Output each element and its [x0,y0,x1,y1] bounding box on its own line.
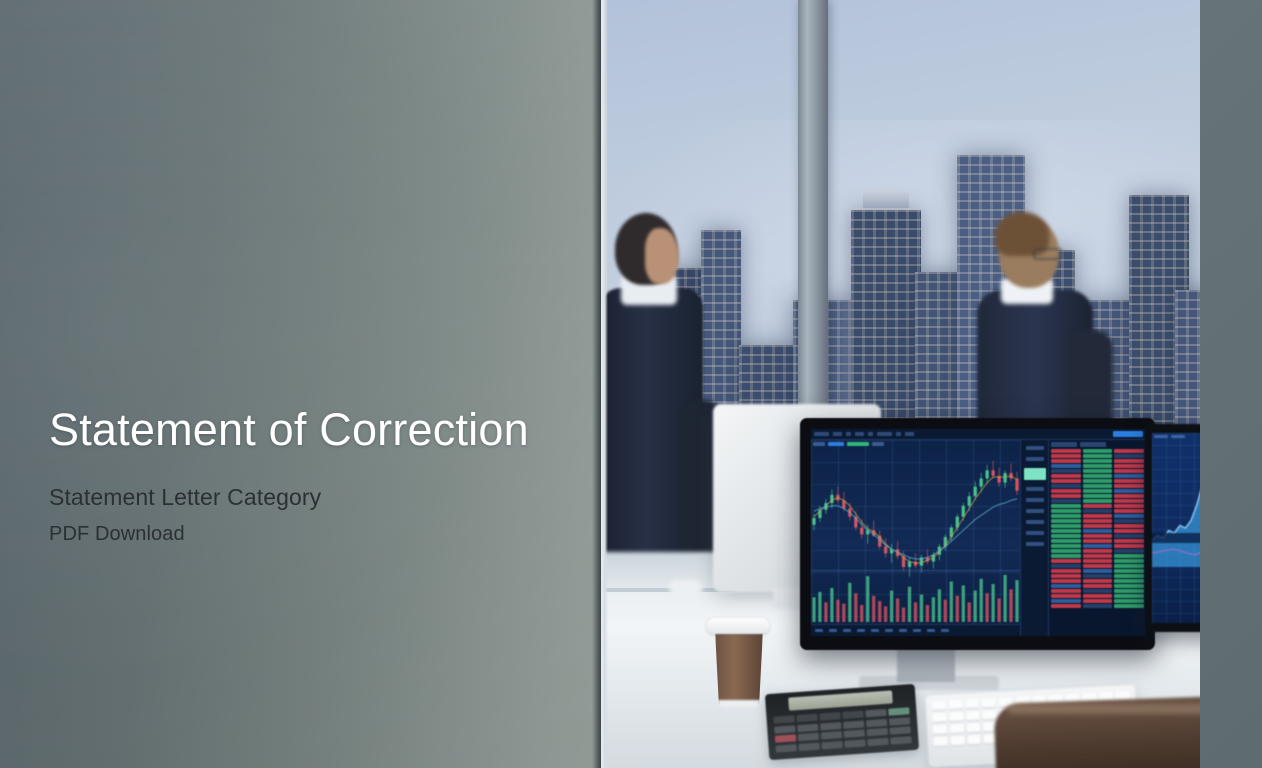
candles-svg [811,454,1020,582]
chart-symbol-row [813,442,884,446]
page-title: Statement of Correction [49,404,569,456]
calculator [765,684,919,760]
wall-corner-highlight [601,0,608,768]
calculator-keys [773,707,911,752]
mouse [669,580,703,596]
trading-terminal-screen [811,429,1146,636]
market-depth-panel[interactable] [1048,440,1146,636]
glasses-icon [1033,248,1063,260]
calculator-display [788,690,892,710]
price-scale [1020,440,1048,636]
volume-svg [811,570,1020,622]
monitor-trading-main [800,418,1155,650]
pdf-download-label[interactable]: PDF Download [49,523,569,546]
wall-panel [0,0,601,768]
right-color-band [1200,0,1262,768]
coffee-cup-body [715,630,763,704]
terminal-toolbar [811,429,1146,440]
area-chart-svg [1152,447,1200,567]
wall-corner-shadow [592,0,601,768]
current-price-tag [1024,468,1046,480]
coffee-cup-lid [707,618,769,634]
secondary-screen [1152,433,1200,623]
monitor-secondary [1145,424,1200,632]
toolbar-accent-button[interactable] [1113,431,1143,437]
chart-time-axis [811,624,1020,636]
depth-rows [1051,449,1144,608]
main-monitor-neck [897,648,955,682]
candlestick-chart [811,440,1020,636]
slide-canvas: Statement of Correction Statement Letter… [0,0,1262,768]
document-category-label: Statement Letter Category [49,484,569,511]
office-chair-highlight [1007,704,1200,714]
coffee-cup-base [718,700,760,707]
cover-text-block: Statement of Correction Statement Letter… [49,404,569,546]
office-photo-background [597,0,1200,768]
